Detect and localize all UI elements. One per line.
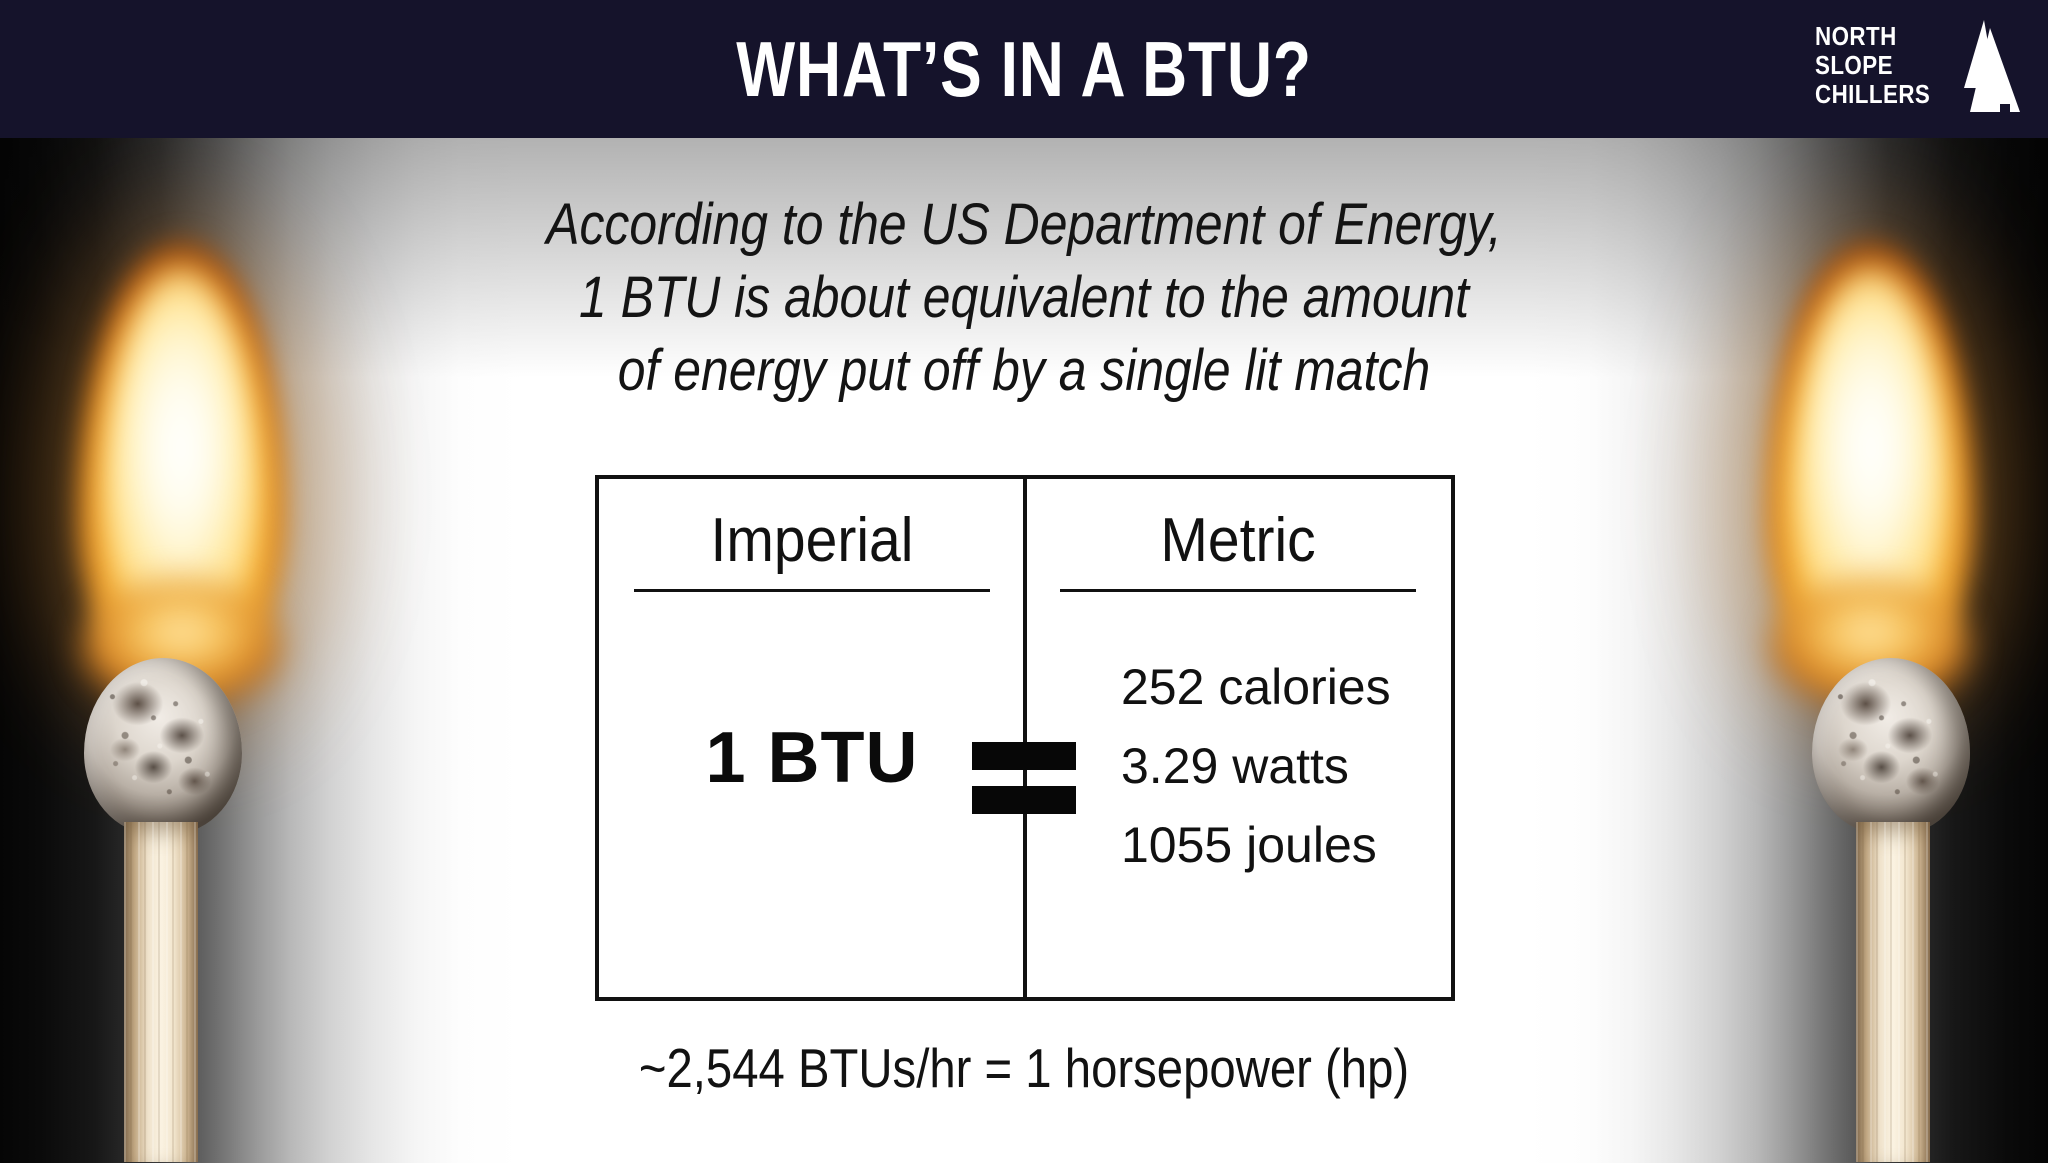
column-header-metric: Metric bbox=[1042, 505, 1434, 576]
metric-value-calories: 252 calories bbox=[1121, 657, 1391, 717]
brand-logo-wordmark: NORTH SLOPE CHILLERS bbox=[1815, 22, 1930, 109]
brand-logo-line-1: NORTH bbox=[1815, 22, 1930, 51]
match-stick-grain bbox=[1856, 822, 1930, 1162]
match-head-icon bbox=[84, 658, 242, 834]
intro-line-1: According to the US Department of Energy… bbox=[143, 188, 1904, 261]
brand-logo-line-2: SLOPE bbox=[1815, 51, 1930, 80]
column-header-rule bbox=[634, 589, 990, 592]
header-bar: WHAT’S IN A BTU? NORTH SLOPE CHILLERS bbox=[0, 0, 2048, 138]
comparison-table: Imperial 1 BTU Metric 252 calories 3.29 … bbox=[595, 475, 1455, 1001]
match-stick-icon bbox=[1856, 822, 1930, 1162]
metric-value-list: 252 calories 3.29 watts 1055 joules bbox=[1121, 657, 1391, 894]
match-stick-icon bbox=[124, 822, 198, 1162]
match-head-icon bbox=[1812, 658, 1970, 834]
column-header-rule bbox=[1060, 589, 1416, 592]
mountain-slope-icon bbox=[1934, 20, 2020, 116]
page-title: WHAT’S IN A BTU? bbox=[205, 0, 1843, 138]
equals-bar-bottom bbox=[972, 786, 1076, 814]
metric-value-joules: 1055 joules bbox=[1121, 815, 1391, 875]
brand-logo: NORTH SLOPE CHILLERS bbox=[1815, 18, 2020, 118]
match-head-texture bbox=[84, 658, 242, 834]
infographic-canvas: WHAT’S IN A BTU? NORTH SLOPE CHILLERS Ac… bbox=[0, 0, 2048, 1163]
table-column-metric: Metric 252 calories 3.29 watts 1055 joul… bbox=[1025, 479, 1451, 997]
footnote: ~2,544 BTUs/hr = 1 horsepower (hp) bbox=[0, 1036, 2048, 1100]
imperial-value: 1 BTU bbox=[599, 717, 1025, 799]
match-head-texture bbox=[1812, 658, 1970, 834]
match-stick-grain bbox=[124, 822, 198, 1162]
metric-value-watts: 3.29 watts bbox=[1121, 736, 1391, 796]
intro-line-3: of energy put off by a single lit match bbox=[143, 334, 1904, 407]
footnote-text: ~2,544 BTUs/hr = 1 horsepower (hp) bbox=[143, 1036, 1904, 1100]
equals-sign-icon bbox=[972, 742, 1076, 814]
table-column-imperial: Imperial 1 BTU bbox=[599, 479, 1025, 997]
brand-logo-line-3: CHILLERS bbox=[1815, 80, 1930, 109]
equals-bar-top bbox=[972, 742, 1076, 770]
column-header-imperial: Imperial bbox=[616, 505, 1008, 576]
intro-paragraph: According to the US Department of Energy… bbox=[0, 188, 2048, 407]
intro-line-2: 1 BTU is about equivalent to the amount bbox=[143, 261, 1904, 334]
